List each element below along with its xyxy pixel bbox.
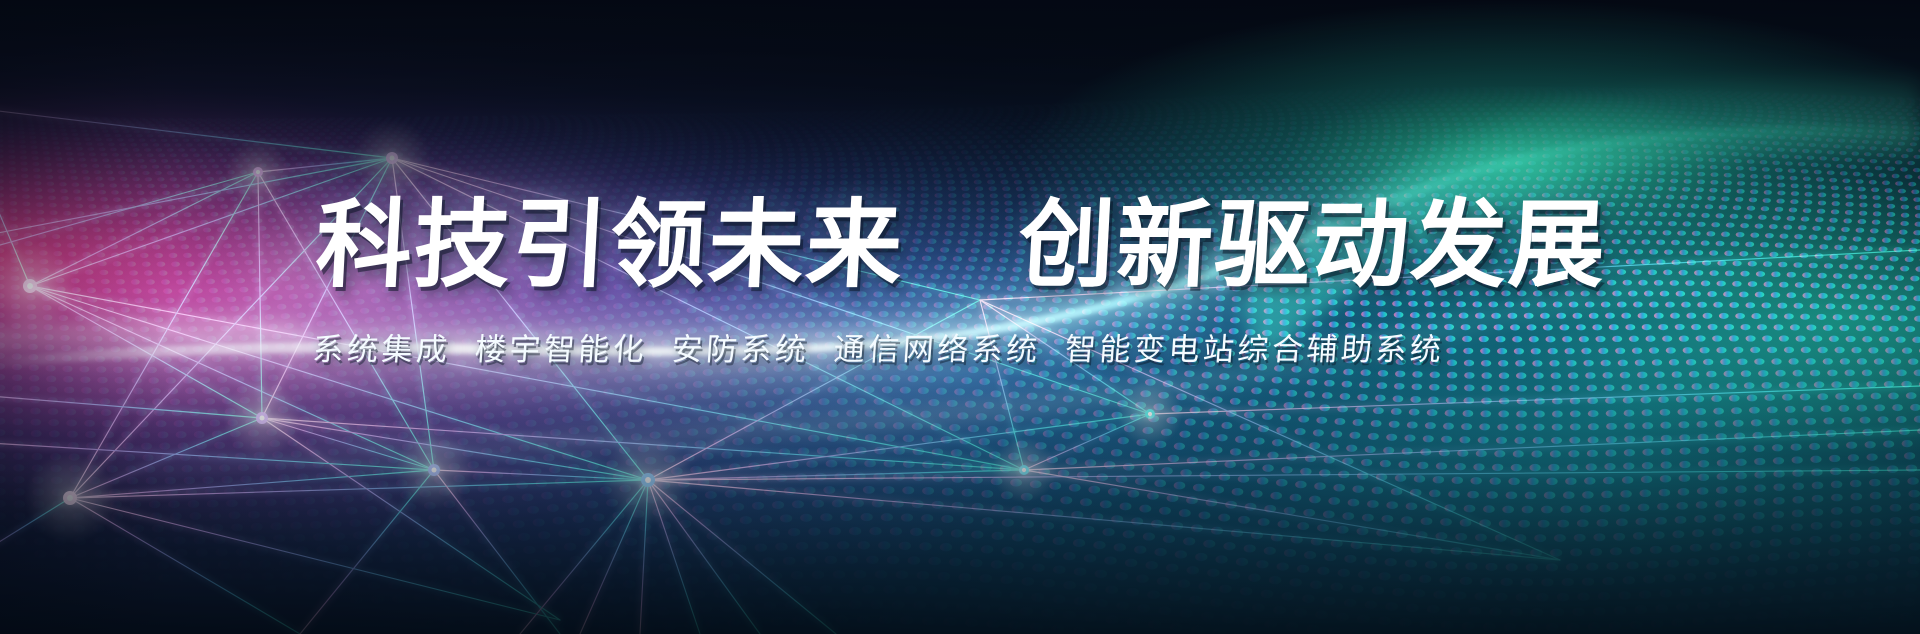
- banner-headline: 科技引领未来 创新驱动发展: [0, 198, 1920, 294]
- hero-banner: 科技引领未来 创新驱动发展 系统集成 楼宇智能化 安防系统 通信网络系统 智能变…: [0, 0, 1920, 634]
- banner-subtitle: 系统集成 楼宇智能化 安防系统 通信网络系统 智能变电站综合辅助系统: [0, 294, 1920, 365]
- banner-text-block: 科技引领未来 创新驱动发展 系统集成 楼宇智能化 安防系统 通信网络系统 智能变…: [0, 198, 1920, 365]
